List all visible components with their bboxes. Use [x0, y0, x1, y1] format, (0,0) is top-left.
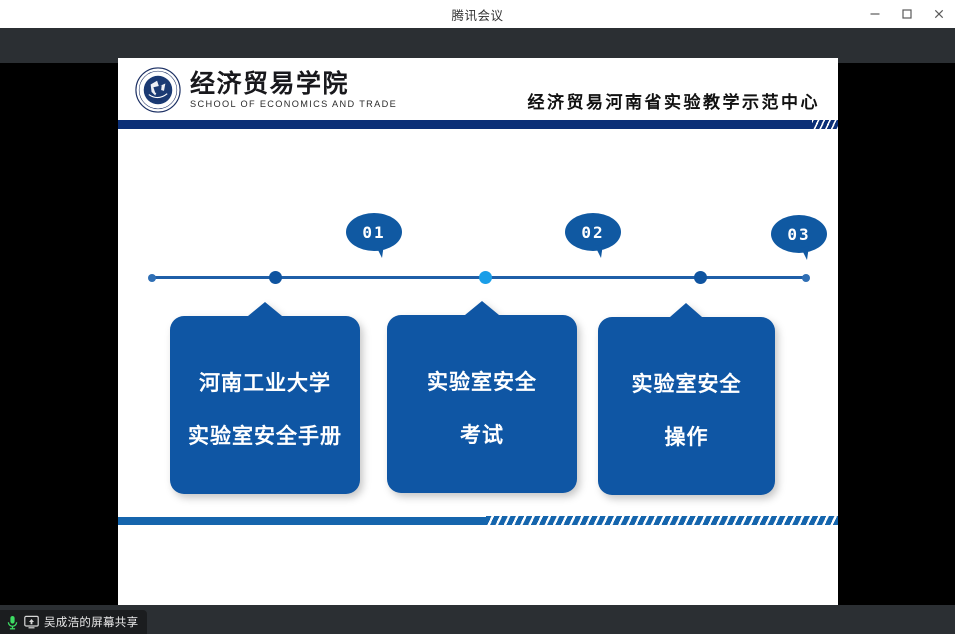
step-badge-3-number: 03: [771, 215, 827, 253]
presentation-slide: 1956 经济贸易学院 SCHOOL OF ECONOMICS AND TRAD…: [118, 58, 838, 605]
center-name-title: 经济贸易河南省实验教学示范中心: [528, 88, 821, 113]
slide-top-band: [118, 120, 838, 129]
minimize-button[interactable]: [859, 0, 891, 28]
step-badge-1: 01: [346, 213, 402, 257]
screen-share-icon[interactable]: [24, 615, 39, 629]
step-card-3[interactable]: 实验室安全 操作: [598, 303, 775, 495]
close-icon: [933, 8, 945, 20]
step-badge-2-number: 02: [565, 213, 621, 251]
step-card-1[interactable]: 河南工业大学 实验室安全手册: [170, 302, 360, 494]
card-shape: [387, 301, 577, 493]
title-bar: 腾讯会议: [0, 0, 955, 29]
maximize-icon: [901, 8, 913, 20]
step-badge-3: 03: [771, 215, 827, 259]
svg-text:1956: 1956: [154, 98, 162, 102]
institution-logo: 1956 经济贸易学院 SCHOOL OF ECONOMICS AND TRAD…: [135, 67, 397, 113]
slide-header: 1956 经济贸易学院 SCHOOL OF ECONOMICS AND TRAD…: [118, 58, 838, 116]
card-shape: [170, 302, 360, 494]
step-badge-2: 02: [565, 213, 621, 257]
card-shape: [598, 303, 775, 495]
step-badge-1-number: 01: [346, 213, 402, 251]
logo-chinese-name: 经济贸易学院: [190, 71, 397, 97]
step-card-2[interactable]: 实验室安全 考试: [387, 301, 577, 493]
tencent-meeting-window: 腾讯会议: [0, 0, 955, 634]
timeline-node-3: [694, 271, 707, 284]
maximize-button[interactable]: [891, 0, 923, 28]
close-button[interactable]: [923, 0, 955, 28]
logo-wordmark: 经济贸易学院 SCHOOL OF ECONOMICS AND TRADE: [190, 71, 397, 109]
microphone-icon[interactable]: [6, 615, 19, 630]
window-controls: [859, 0, 955, 28]
screen-share-indicator[interactable]: 吴成浩的屏幕共享: [0, 610, 147, 634]
timeline-node-2: [479, 271, 492, 284]
window-title: 腾讯会议: [451, 5, 503, 24]
slide-bottom-bar: [118, 517, 486, 525]
timeline-track: [152, 276, 806, 279]
logo-english-name: SCHOOL OF ECONOMICS AND TRADE: [190, 99, 397, 109]
screen-share-bar: 吴成浩的屏幕共享: [0, 605, 955, 634]
screen-share-label: 吴成浩的屏幕共享: [44, 614, 138, 630]
slide-top-band-stripes: [812, 120, 838, 129]
timeline-end-dot-left: [148, 274, 156, 282]
minimize-icon: [869, 8, 881, 20]
slide-bottom-stripes: [486, 516, 838, 525]
timeline-node-1: [269, 271, 282, 284]
university-seal-icon: 1956: [135, 67, 181, 113]
timeline-end-dot-right: [802, 274, 810, 282]
